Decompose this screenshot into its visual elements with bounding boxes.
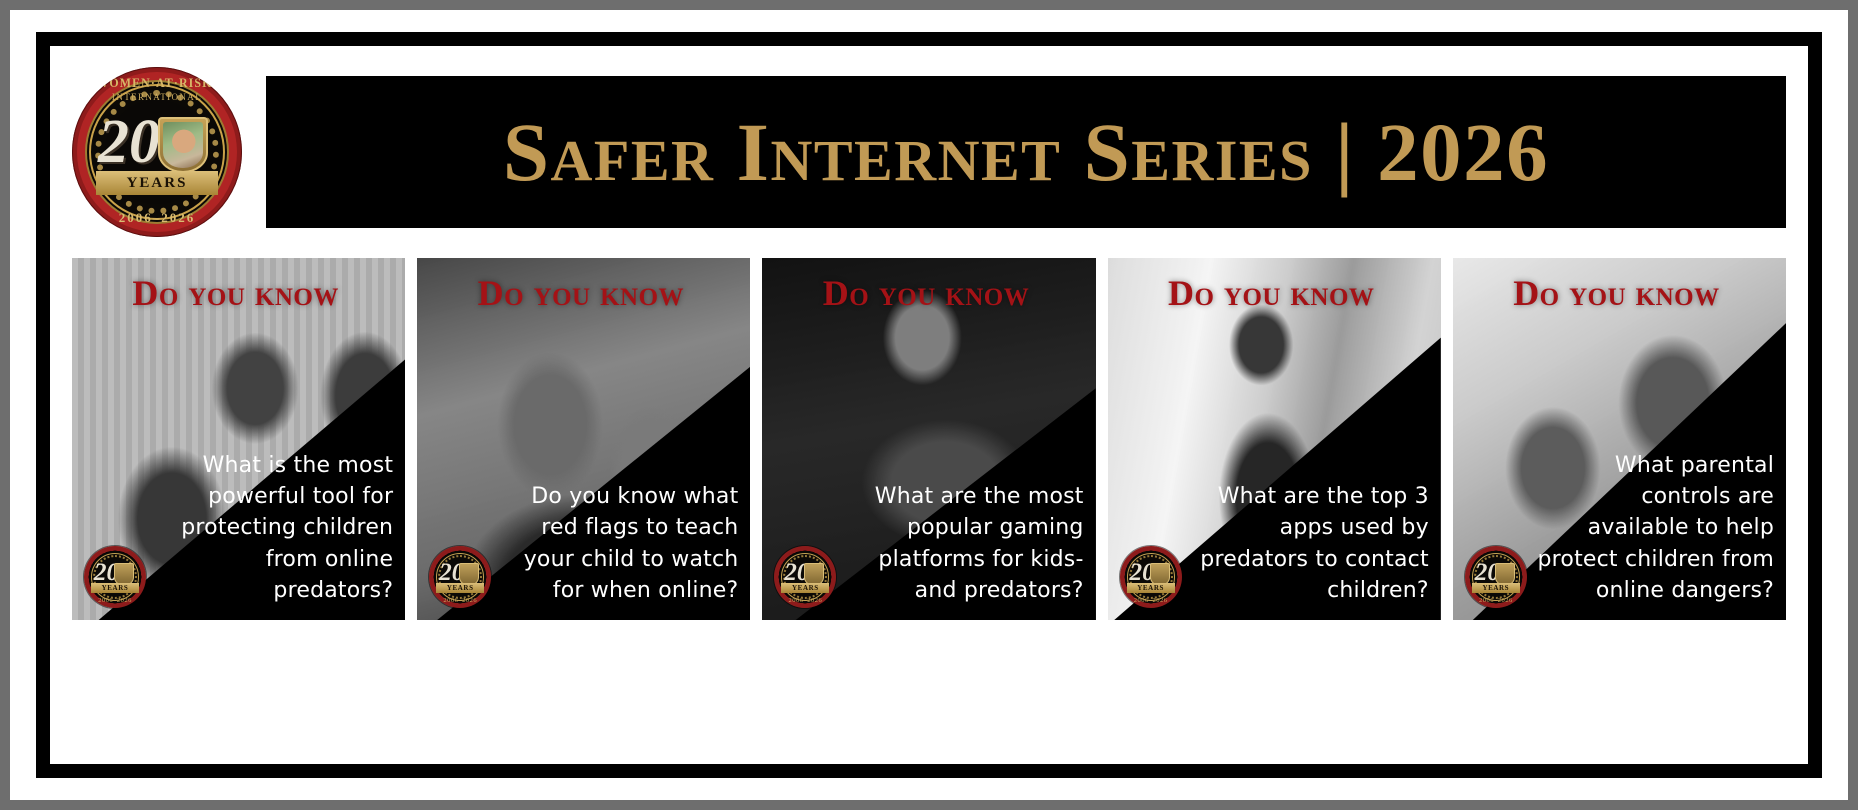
badge-year-span: 2006–2026 bbox=[84, 597, 146, 604]
card-item[interactable]: Do you know What is the most powerful to… bbox=[72, 258, 405, 620]
card-header-label: Do you know bbox=[762, 272, 1089, 314]
card-question-text: What is the most powerful tool for prote… bbox=[153, 450, 393, 606]
seal-org-name: WOMEN·AT·RISK· bbox=[76, 76, 238, 91]
organization-seal-logo: WOMEN·AT·RISK· INTERNATIONAL 20 YEARS 20… bbox=[72, 67, 242, 237]
card-seal-badge: 20 YEARS 2006–2026 bbox=[1120, 546, 1182, 608]
card-question-text: What are the most popular gaming platfor… bbox=[844, 481, 1084, 606]
card-row: Do you know What is the most powerful to… bbox=[72, 258, 1786, 620]
poster-page: WOMEN·AT·RISK· INTERNATIONAL 20 YEARS 20… bbox=[0, 0, 1858, 810]
card-item[interactable]: Do you know Do you know what red flags t… bbox=[417, 258, 750, 620]
seal-org-subtitle: INTERNATIONAL bbox=[72, 92, 242, 102]
badge-years-banner: YEARS bbox=[1127, 583, 1175, 593]
poster-frame-inner: WOMEN·AT·RISK· INTERNATIONAL 20 YEARS 20… bbox=[50, 46, 1808, 764]
card-item[interactable]: Do you know What are the most popular ga… bbox=[762, 258, 1095, 620]
card-seal-badge: 20 YEARS 2006–2026 bbox=[429, 546, 491, 608]
seal-child-photo bbox=[163, 122, 203, 168]
poster-header: WOMEN·AT·RISK· INTERNATIONAL 20 YEARS 20… bbox=[72, 64, 1786, 240]
seal-shield-icon bbox=[158, 117, 208, 173]
badge-years-banner: YEARS bbox=[436, 583, 484, 593]
card-item[interactable]: Do you know What are the top 3 apps used… bbox=[1108, 258, 1441, 620]
seal-years-banner: YEARS bbox=[96, 171, 218, 195]
card-header-label: Do you know bbox=[417, 272, 744, 314]
badge-years-banner: YEARS bbox=[781, 583, 829, 593]
poster-paper: WOMEN·AT·RISK· INTERNATIONAL 20 YEARS 20… bbox=[10, 10, 1848, 800]
title-banner: Safer Internet Series | 2026 bbox=[266, 76, 1786, 228]
badge-year-span: 2006–2026 bbox=[429, 597, 491, 604]
badge-year-span: 2006–2026 bbox=[1120, 597, 1182, 604]
card-question-text: Do you know what red flags to teach your… bbox=[499, 481, 739, 606]
card-header-label: Do you know bbox=[1453, 272, 1780, 314]
card-header-label: Do you know bbox=[1108, 272, 1435, 314]
seal-year-span: 2006–2026 bbox=[72, 210, 242, 226]
card-seal-badge: 20 YEARS 2006–2026 bbox=[774, 546, 836, 608]
badge-year-span: 2006–2026 bbox=[774, 597, 836, 604]
card-item[interactable]: Do you know What parental controls are a… bbox=[1453, 258, 1786, 620]
card-question-text: What parental controls are available to … bbox=[1534, 450, 1774, 606]
badge-year-span: 2006–2026 bbox=[1465, 597, 1527, 604]
card-seal-badge: 20 YEARS 2006–2026 bbox=[84, 546, 146, 608]
badge-years-banner: YEARS bbox=[91, 583, 139, 593]
seal-anniversary-number: 20 bbox=[98, 111, 160, 173]
poster-frame: WOMEN·AT·RISK· INTERNATIONAL 20 YEARS 20… bbox=[36, 32, 1822, 778]
card-question-text: What are the top 3 apps used by predator… bbox=[1189, 481, 1429, 606]
page-title: Safer Internet Series | 2026 bbox=[503, 111, 1549, 194]
card-seal-badge: 20 YEARS 2006–2026 bbox=[1465, 546, 1527, 608]
card-header-label: Do you know bbox=[72, 272, 399, 314]
badge-years-banner: YEARS bbox=[1472, 583, 1520, 593]
